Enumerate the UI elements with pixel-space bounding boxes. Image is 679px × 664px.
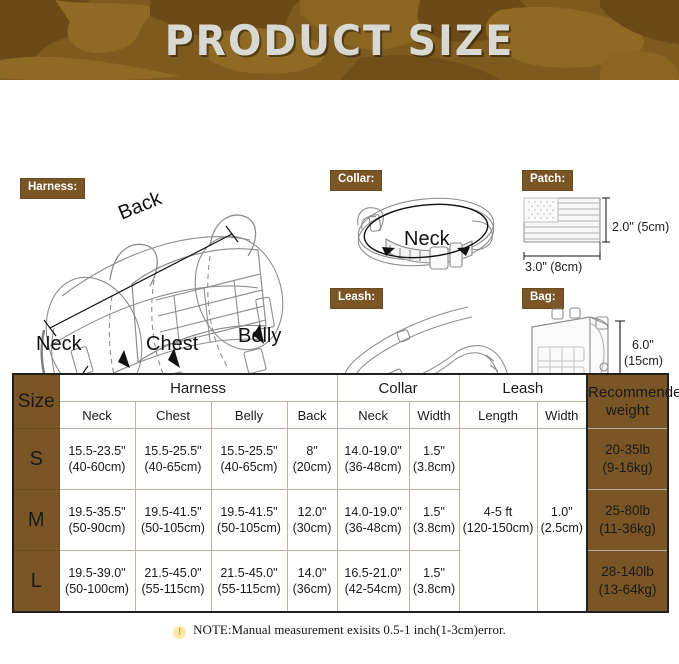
header-harness-chest: Chest (135, 402, 211, 429)
value-in: 15.5-23.5" (60, 443, 135, 459)
value-cm: (50-100cm) (60, 581, 135, 597)
header-leash-width: Width (537, 402, 587, 429)
cell-leash-length: 4-5 ft (120-150cm) (459, 429, 537, 613)
cell-collar-neck: 16.5-21.0" (42-54cm) (337, 551, 409, 613)
row-size-l: L (13, 551, 59, 613)
note-text: NOTE:Manual measurement exisits 0.5-1 in… (193, 622, 506, 637)
cell-recommended-weight: 25-80lb (11-36kg) (587, 490, 668, 551)
value-cm: (50-105cm) (212, 520, 287, 536)
value-cm: (3.8cm) (410, 520, 459, 536)
value-cm: (40-60cm) (60, 459, 135, 475)
header-group-collar: Collar (337, 374, 459, 402)
cell-harness-chest: 15.5-25.5" (40-65cm) (135, 429, 211, 490)
cell-harness-neck: 15.5-23.5" (40-60cm) (59, 429, 135, 490)
table-sub-header-row: Neck Chest Belly Back Neck Width Length … (13, 402, 668, 429)
patch-badge: Patch: (522, 170, 573, 191)
value-in: 19.5-35.5" (60, 504, 135, 520)
value-in: 14.0" (288, 565, 337, 581)
cell-collar-width: 1.5" (3.8cm) (409, 551, 459, 613)
diagram-area: Harness: (0, 80, 679, 373)
value-in: 1.5" (410, 504, 459, 520)
size-table: Size Harness Collar Leash Recommended we… (12, 373, 669, 613)
value-kg: (11-36kg) (588, 520, 667, 538)
value-cm: (36-48cm) (338, 520, 409, 536)
row-size-m: M (13, 490, 59, 551)
value-in: 8" (288, 443, 337, 459)
value-in: 19.5-41.5" (136, 504, 211, 520)
value-cm: (50-90cm) (60, 520, 135, 536)
harness-belly-label: Belly (238, 325, 281, 348)
cell-collar-width: 1.5" (3.8cm) (409, 490, 459, 551)
value-in: 19.5-39.0" (60, 565, 135, 581)
value-in: 1.5" (410, 443, 459, 459)
harness-neck-label: Neck (36, 333, 82, 356)
cell-collar-width: 1.5" (3.8cm) (409, 429, 459, 490)
row-size-s: S (13, 429, 59, 490)
value-in: 14.0-19.0" (338, 504, 409, 520)
value-cm: (50-105cm) (136, 520, 211, 536)
value-cm: (120-150cm) (460, 520, 537, 536)
cell-harness-back: 8" (20cm) (287, 429, 337, 490)
cell-recommended-weight: 28-140lb (13-64kg) (587, 551, 668, 613)
value-kg: (9-16kg) (588, 459, 667, 477)
value-cm: (20cm) (288, 459, 337, 475)
value-in: 1.5" (410, 565, 459, 581)
cell-harness-belly: 15.5-25.5" (40-65cm) (211, 429, 287, 490)
value-in: 15.5-25.5" (136, 443, 211, 459)
value-in: 21.5-45.0" (136, 565, 211, 581)
header-leash-length: Length (459, 402, 537, 429)
value-in: 21.5-45.0" (212, 565, 287, 581)
value-kg: (13-64kg) (588, 581, 667, 599)
value-cm: (40-65cm) (136, 459, 211, 475)
header-recommended-weight-line2: weight (588, 402, 667, 419)
patch-height-dim: 2.0" (5cm) (612, 220, 669, 234)
header-recommended-weight-line1: Recommended (588, 384, 667, 401)
note-row: !NOTE:Manual measurement exisits 0.5-1 i… (0, 613, 679, 639)
collar-neck-label: Neck (404, 228, 450, 251)
value-in: 19.5-41.5" (212, 504, 287, 520)
value-cm: (42-54cm) (338, 581, 409, 597)
header-harness-neck: Neck (59, 402, 135, 429)
cell-leash-width: 1.0" (2.5cm) (537, 429, 587, 613)
cell-harness-neck: 19.5-35.5" (50-90cm) (59, 490, 135, 551)
value-in: 16.5-21.0" (338, 565, 409, 581)
page-header-banner: PRODUCT SIZE (0, 0, 679, 80)
value-cm: (36cm) (288, 581, 337, 597)
cell-harness-chest: 19.5-41.5" (50-105cm) (135, 490, 211, 551)
value-cm: (3.8cm) (410, 581, 459, 597)
header-group-harness: Harness (59, 374, 337, 402)
table-group-header-row: Size Harness Collar Leash Recommended we… (13, 374, 668, 402)
value-in: 12.0" (288, 504, 337, 520)
cell-harness-belly: 21.5-45.0" (55-115cm) (211, 551, 287, 613)
header-size: Size (13, 374, 59, 429)
header-group-leash: Leash (459, 374, 587, 402)
header-recommended-weight: Recommended weight (587, 374, 668, 429)
value-in: 1.0" (538, 504, 587, 520)
cell-harness-belly: 19.5-41.5" (50-105cm) (211, 490, 287, 551)
value-lb: 20-35lb (588, 441, 667, 459)
header-harness-belly: Belly (211, 402, 287, 429)
cell-recommended-weight: 20-35lb (9-16kg) (587, 429, 668, 490)
table-row: S 15.5-23.5" (40-60cm) 15.5-25.5" (40-65… (13, 429, 668, 490)
value-cm: (55-115cm) (212, 581, 287, 597)
cell-harness-back: 12.0" (30cm) (287, 490, 337, 551)
cell-harness-back: 14.0" (36cm) (287, 551, 337, 613)
cell-collar-neck: 14.0-19.0" (36-48cm) (337, 490, 409, 551)
harness-chest-label: Chest (146, 333, 198, 356)
header-collar-neck: Neck (337, 402, 409, 429)
value-in: 15.5-25.5" (212, 443, 287, 459)
size-table-zone: Size Harness Collar Leash Recommended we… (0, 373, 679, 613)
value-cm: (2.5cm) (538, 520, 587, 536)
value-cm: (40-65cm) (212, 459, 287, 475)
bag-height-dim-line1: 6.0" (632, 338, 654, 352)
value-lb: 28-140lb (588, 563, 667, 581)
value-cm: (30cm) (288, 520, 337, 536)
cell-collar-neck: 14.0-19.0" (36-48cm) (337, 429, 409, 490)
value-cm: (3.8cm) (410, 459, 459, 475)
header-collar-width: Width (409, 402, 459, 429)
patch-width-dim: 3.0" (8cm) (525, 260, 582, 274)
value-cm: (55-115cm) (136, 581, 211, 597)
cell-harness-neck: 19.5-39.0" (50-100cm) (59, 551, 135, 613)
cell-harness-chest: 21.5-45.0" (55-115cm) (135, 551, 211, 613)
page-title: PRODUCT SIZE (0, 0, 679, 80)
value-lb: 25-80lb (588, 502, 667, 520)
value-cm: (36-48cm) (338, 459, 409, 475)
bag-height-dim-line2: (15cm) (624, 354, 663, 368)
value-in: 14.0-19.0" (338, 443, 409, 459)
header-harness-back: Back (287, 402, 337, 429)
warning-icon: ! (173, 626, 186, 639)
value-ft: 4-5 ft (460, 504, 537, 520)
